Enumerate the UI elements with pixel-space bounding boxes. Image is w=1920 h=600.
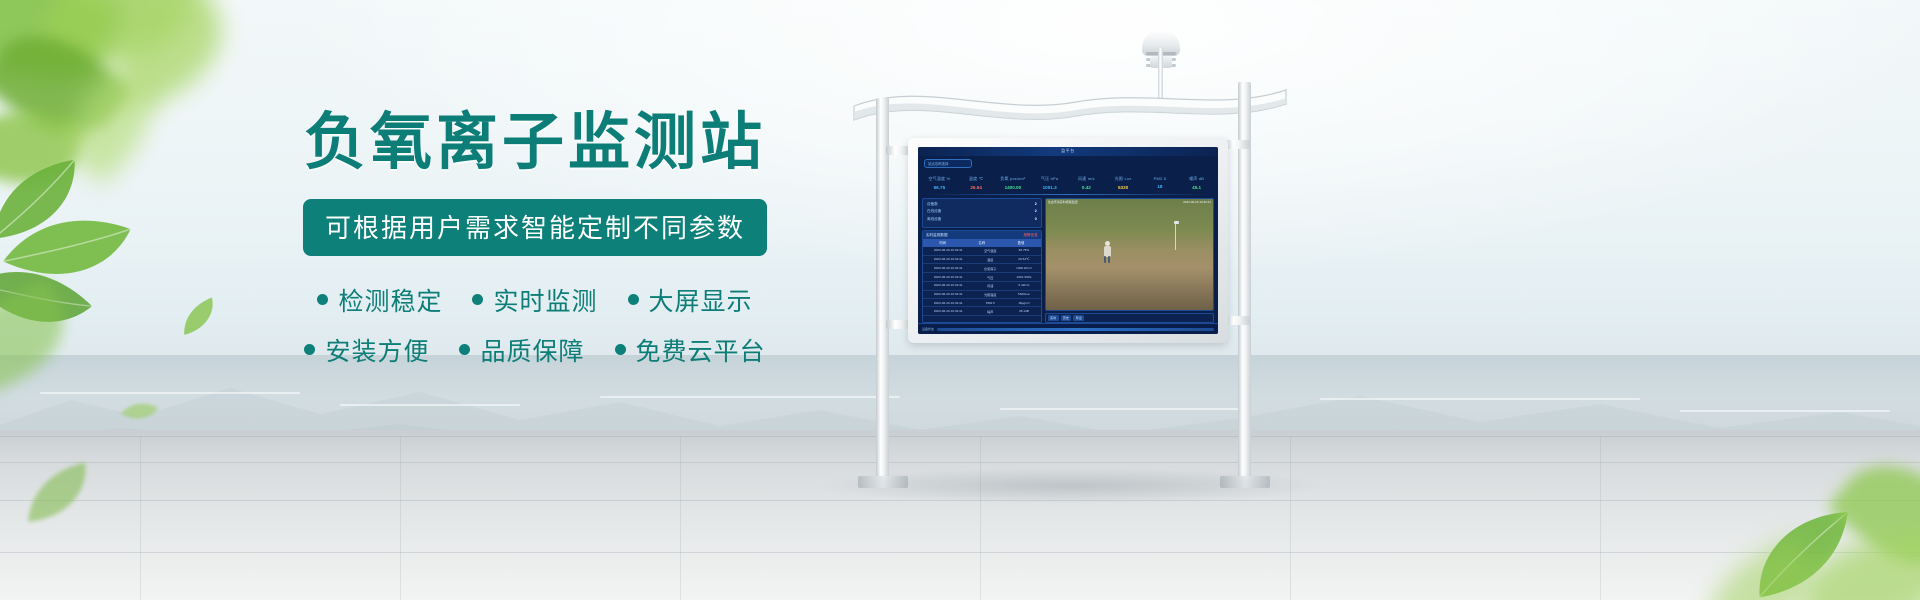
table-cell: 45.1dB <box>1007 307 1041 315</box>
kpi-label: 温度 ℃ <box>959 176 994 182</box>
kpi-label: PM2.5 <box>1143 176 1178 181</box>
kpi-label: 噪声 dB <box>1179 176 1214 182</box>
stat-value: 2 <box>1035 209 1037 214</box>
table-cell: 2023-06-20 10:32:41 <box>923 273 973 281</box>
table-cell: 0.42m/s <box>1007 282 1041 290</box>
feature-label: 免费云平台 <box>636 332 766 368</box>
stat-label: 离线设备 <box>927 217 941 222</box>
bullet-dot-icon <box>304 344 315 355</box>
kpi-card: 空气湿度 % 66.75 <box>922 176 957 190</box>
table-cell: 2023-06-20 10:32:41 <box>923 299 973 306</box>
table-cell: 18μg/m³ <box>1007 299 1041 306</box>
feature-label: 品质保障 <box>480 332 584 368</box>
table-cell: 2023-06-20 10:32:41 <box>923 291 973 299</box>
kpi-card: 温度 ℃ 26.54 <box>959 176 994 190</box>
kpi-value: 45.1 <box>1179 185 1214 190</box>
live-video-panel[interactable]: 生态环境实时视频监控 2023-06-20 10:32:41 <box>1045 198 1214 311</box>
table-cell: 26.54℃ <box>1007 256 1041 264</box>
feature-item: 安装方便 <box>304 332 429 368</box>
table-cell: 负氧离子 <box>973 264 1007 272</box>
table-row[interactable]: 2023-06-20 10:32:41 负氧离子 1400.0/cm³ <box>923 264 1041 273</box>
kpi-label: 空气湿度 % <box>922 176 957 182</box>
pavement-line <box>1600 436 1601 600</box>
dashboard-left-column: 设备数 2 在线设备 2 离线设备 0 <box>922 198 1042 323</box>
feature-row-1: 检测稳定 实时监测 大屏显示 <box>300 282 770 318</box>
table-cell: 噪声 <box>973 307 1007 315</box>
table-cell: 66.75% <box>1007 247 1041 255</box>
table-row[interactable]: 2023-06-20 10:32:41 风速 0.42m/s <box>923 282 1041 291</box>
footer-progress-bar <box>937 328 1214 331</box>
kpi-value: 1001.3 <box>1032 185 1067 190</box>
subtitle-wrapper: 可根据用户需求智能定制不同参数 <box>300 199 770 256</box>
table-row[interactable]: 2023-06-20 10:32:41 空气湿度 66.75% <box>923 247 1041 256</box>
feature-label: 安装方便 <box>325 332 429 368</box>
table-caption-right: 报警信息 <box>1023 233 1037 238</box>
video-control-strip: 实时 历史 导出 <box>1045 313 1214 323</box>
water-streak <box>340 404 520 406</box>
device-stats-box: 设备数 2 在线设备 2 离线设备 0 <box>922 198 1042 228</box>
table-header-cell: 名称 <box>962 239 1001 247</box>
kiosk-shadow <box>810 468 1330 504</box>
bullet-dot-icon <box>615 344 626 355</box>
left-post <box>876 98 889 480</box>
feature-label: 检测稳定 <box>338 282 442 318</box>
kpi-card: 光照 Lux 5320 <box>1106 176 1141 190</box>
kpi-label: 风速 m/s <box>1069 176 1104 182</box>
page-title: 负氧离子监测站 <box>300 110 770 177</box>
table-cell: 5320Lux <box>1007 291 1041 299</box>
pavement-line <box>0 552 1920 553</box>
stat-value: 0 <box>1035 217 1037 222</box>
water-streak <box>1320 398 1640 400</box>
field-mast <box>1175 224 1176 250</box>
table-cell: 风速 <box>973 282 1007 290</box>
water-streak <box>40 392 300 394</box>
kpi-card: 负氧 pcs/cm³ 1400.00 <box>996 176 1031 190</box>
dashboard-right-column: 生态环境实时视频监控 2023-06-20 10:32:41 <box>1045 198 1214 323</box>
kpi-card: 噪声 dB 45.1 <box>1179 176 1214 190</box>
station-selector-label: 站点名称选择 <box>928 161 948 166</box>
video-button-realtime[interactable]: 实时 <box>1048 315 1059 321</box>
table-cell: 2023-06-20 10:32:41 <box>923 256 973 264</box>
feature-list: 检测稳定 实时监测 大屏显示 安装方便 品质保障 免费云平台 <box>300 282 770 368</box>
table-caption: 实时监测数据 报警信息 <box>923 231 1041 239</box>
data-table[interactable]: 实时监测数据 报警信息 时间 名称 数值 2023-06-20 10:32:41… <box>922 230 1042 323</box>
table-row[interactable]: 2023-06-20 10:32:41 温度 26.54℃ <box>923 256 1041 265</box>
table-cell: 2023-06-20 10:32:41 <box>923 307 973 315</box>
pavement-line <box>680 436 681 600</box>
feature-item: 检测稳定 <box>317 282 442 318</box>
table-header-row: 时间 名称 数值 <box>923 239 1041 247</box>
kpi-value: 1400.00 <box>996 185 1031 190</box>
dashboard-header: 监平台 <box>918 147 1218 156</box>
table-cell: 光照强度 <box>973 291 1007 299</box>
feature-item: 免费云平台 <box>615 332 766 368</box>
pavement-line <box>400 436 401 600</box>
table-cell: 2023-06-20 10:32:41 <box>923 282 973 290</box>
figure-leg <box>1108 256 1111 263</box>
bullet-dot-icon <box>472 294 483 305</box>
table-cell: 2023-06-20 10:32:41 <box>923 247 973 255</box>
stat-row: 设备数 2 <box>927 202 1037 207</box>
footer-tag: 设备状态 <box>922 327 934 331</box>
dashboard-screen[interactable]: 监平台 站点名称选择 空气湿度 % 66.75 温度 ℃ 26.54 负氧 <box>918 147 1218 334</box>
kpi-value: 66.75 <box>922 185 957 190</box>
kpi-card: 气压 hPa 1001.3 <box>1032 176 1067 190</box>
table-row[interactable]: 2023-06-20 10:32:41 噪声 45.1dB <box>923 307 1041 316</box>
bullet-dot-icon <box>459 344 470 355</box>
feature-row-2: 安装方便 品质保障 免费云平台 <box>300 332 770 368</box>
table-cell: PM2.5 <box>973 299 1007 306</box>
kpi-label: 负氧 pcs/cm³ <box>996 176 1031 182</box>
stat-value: 2 <box>1035 202 1037 207</box>
video-button-export[interactable]: 导出 <box>1073 315 1084 321</box>
table-cell: 气压 <box>973 273 1007 281</box>
dashboard-body: 设备数 2 在线设备 2 离线设备 0 <box>918 195 1218 323</box>
kpi-card: PM2.5 18 <box>1143 176 1178 190</box>
feature-label: 实时监测 <box>493 282 597 318</box>
table-cell: 空气湿度 <box>973 247 1007 255</box>
kpi-value: 0.42 <box>1069 185 1104 190</box>
water-streak <box>1680 410 1890 412</box>
hero-text-block: 负氧离子监测站 可根据用户需求智能定制不同参数 检测稳定 实时监测 大屏显示 安… <box>300 110 770 382</box>
bullet-dot-icon <box>628 294 639 305</box>
feature-item: 大屏显示 <box>628 282 753 318</box>
kpi-label: 气压 hPa <box>1032 176 1067 182</box>
video-button-history[interactable]: 历史 <box>1061 315 1072 321</box>
feature-item: 品质保障 <box>459 332 584 368</box>
table-cell: 1001.3hPa <box>1007 273 1041 281</box>
display-screen-frame: 监平台 站点名称选择 空气湿度 % 66.75 温度 ℃ 26.54 负氧 <box>908 138 1228 343</box>
video-timestamp: 2023-06-20 10:32:41 <box>1183 200 1211 204</box>
stat-row: 离线设备 0 <box>927 217 1037 222</box>
table-cell: 温度 <box>973 256 1007 264</box>
video-label: 生态环境实时视频监控 <box>1048 200 1078 204</box>
table-cell: 1400.0/cm³ <box>1007 264 1041 272</box>
promo-banner: 负氧离子监测站 可根据用户需求智能定制不同参数 检测稳定 实时监测 大屏显示 安… <box>0 0 1920 600</box>
canopy-roof <box>850 82 1290 130</box>
stat-row: 在线设备 2 <box>927 209 1037 214</box>
stat-label: 设备数 <box>927 202 938 207</box>
table-header-cell: 时间 <box>923 239 962 247</box>
station-selector[interactable]: 站点名称选择 <box>924 159 972 168</box>
table-cell: 2023-06-20 10:32:41 <box>923 264 973 272</box>
pavement-line <box>140 436 141 600</box>
bullet-dot-icon <box>317 294 328 305</box>
table-row[interactable]: 2023-06-20 10:32:41 气压 1001.3hPa <box>923 273 1041 282</box>
kpi-card: 风速 m/s 0.42 <box>1069 176 1104 190</box>
table-row[interactable]: 2023-06-20 10:32:41 PM2.5 18μg/m³ <box>923 299 1041 307</box>
kpi-value: 18 <box>1143 184 1178 189</box>
kpi-row: 空气湿度 % 66.75 温度 ℃ 26.54 负氧 pcs/cm³ 1400.… <box>918 176 1218 190</box>
field-mast-top <box>1174 221 1179 224</box>
subtitle-badge: 可根据用户需求智能定制不同参数 <box>303 199 767 256</box>
dashboard-title: 监平台 <box>1061 148 1075 154</box>
stat-label: 在线设备 <box>927 209 941 214</box>
monitoring-station-kiosk: 监平台 站点名称选择 空气湿度 % 66.75 温度 ℃ 26.54 负氧 <box>830 20 1300 500</box>
table-row[interactable]: 2023-06-20 10:32:41 光照强度 5320Lux <box>923 291 1041 300</box>
table-header-cell: 数值 <box>1001 239 1040 247</box>
dashboard-footer: 设备状态 <box>918 323 1218 334</box>
feature-label: 大屏显示 <box>649 282 753 318</box>
kpi-value: 5320 <box>1106 185 1141 190</box>
table-caption-left: 实时监测数据 <box>926 233 948 238</box>
person-figure-icon <box>1103 241 1112 263</box>
figure-leg <box>1104 256 1107 263</box>
kpi-label: 光照 Lux <box>1106 176 1141 182</box>
kpi-value: 26.54 <box>959 185 994 190</box>
feature-item: 实时监测 <box>472 282 597 318</box>
